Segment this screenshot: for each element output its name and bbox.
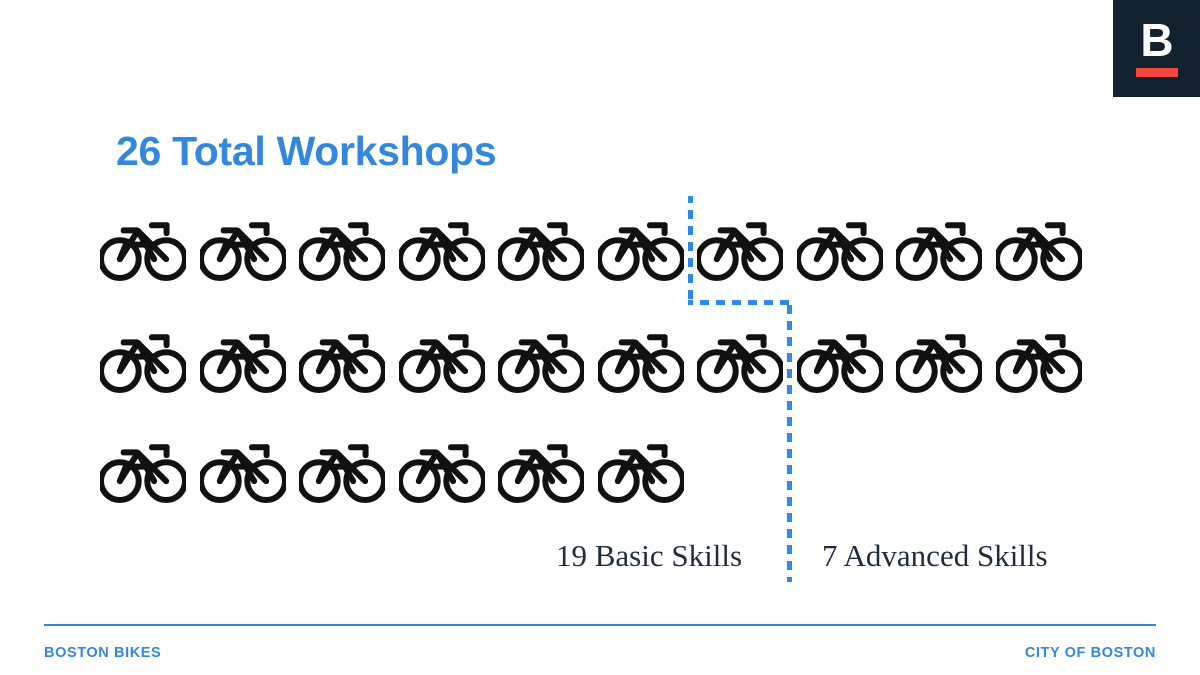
bicycle-icon-basic [598,212,684,284]
divider-horizontal-jog [688,300,792,305]
bicycle-icon-advanced [996,212,1082,284]
bicycle-icon-basic [200,212,286,284]
bicycle-icon-basic [299,434,385,506]
bicycle-icon-basic [200,434,286,506]
pictogram-row [0,212,1200,292]
bicycle-icon-advanced [896,324,982,396]
bicycle-icon-advanced [996,324,1082,396]
bicycle-icon-basic [100,212,186,284]
bicycle-icon-basic [399,434,485,506]
bicycle-icon-basic [498,324,584,396]
footer-divider [44,624,1156,626]
bicycle-icon-basic [598,434,684,506]
slide: B 26 Total Workshops [0,0,1200,675]
footer-left-label: BOSTON BIKES [44,645,161,661]
bicycle-icon-basic [299,212,385,284]
bicycle-icon-basic [200,324,286,396]
divider-vertical-lower [787,300,792,582]
bicycle-icon-advanced [797,324,883,396]
pictogram-row [0,434,1200,514]
bicycle-icon-basic [498,212,584,284]
bicycle-icon-basic [498,434,584,506]
label-advanced-skills: 7 Advanced Skills [822,538,1048,574]
bicycle-icon-advanced [797,212,883,284]
boston-logo: B [1113,0,1200,97]
page-title: 26 Total Workshops [116,128,496,175]
logo-accent-bar [1136,68,1178,77]
bicycle-icon-basic [697,324,783,396]
label-basic-skills: 19 Basic Skills [556,538,742,574]
pictogram-row [0,324,1200,404]
bicycle-icon-advanced [697,212,783,284]
bicycle-icon-advanced [896,212,982,284]
bicycle-icon-basic [299,324,385,396]
logo-letter: B [1140,20,1172,61]
bicycle-icon-basic [399,212,485,284]
bicycle-icon-basic [399,324,485,396]
bicycle-icon-basic [100,434,186,506]
bicycle-icon-basic [598,324,684,396]
divider-vertical-upper [688,196,693,304]
bicycle-icon-basic [100,324,186,396]
footer-right-label: CITY OF BOSTON [1025,645,1156,661]
